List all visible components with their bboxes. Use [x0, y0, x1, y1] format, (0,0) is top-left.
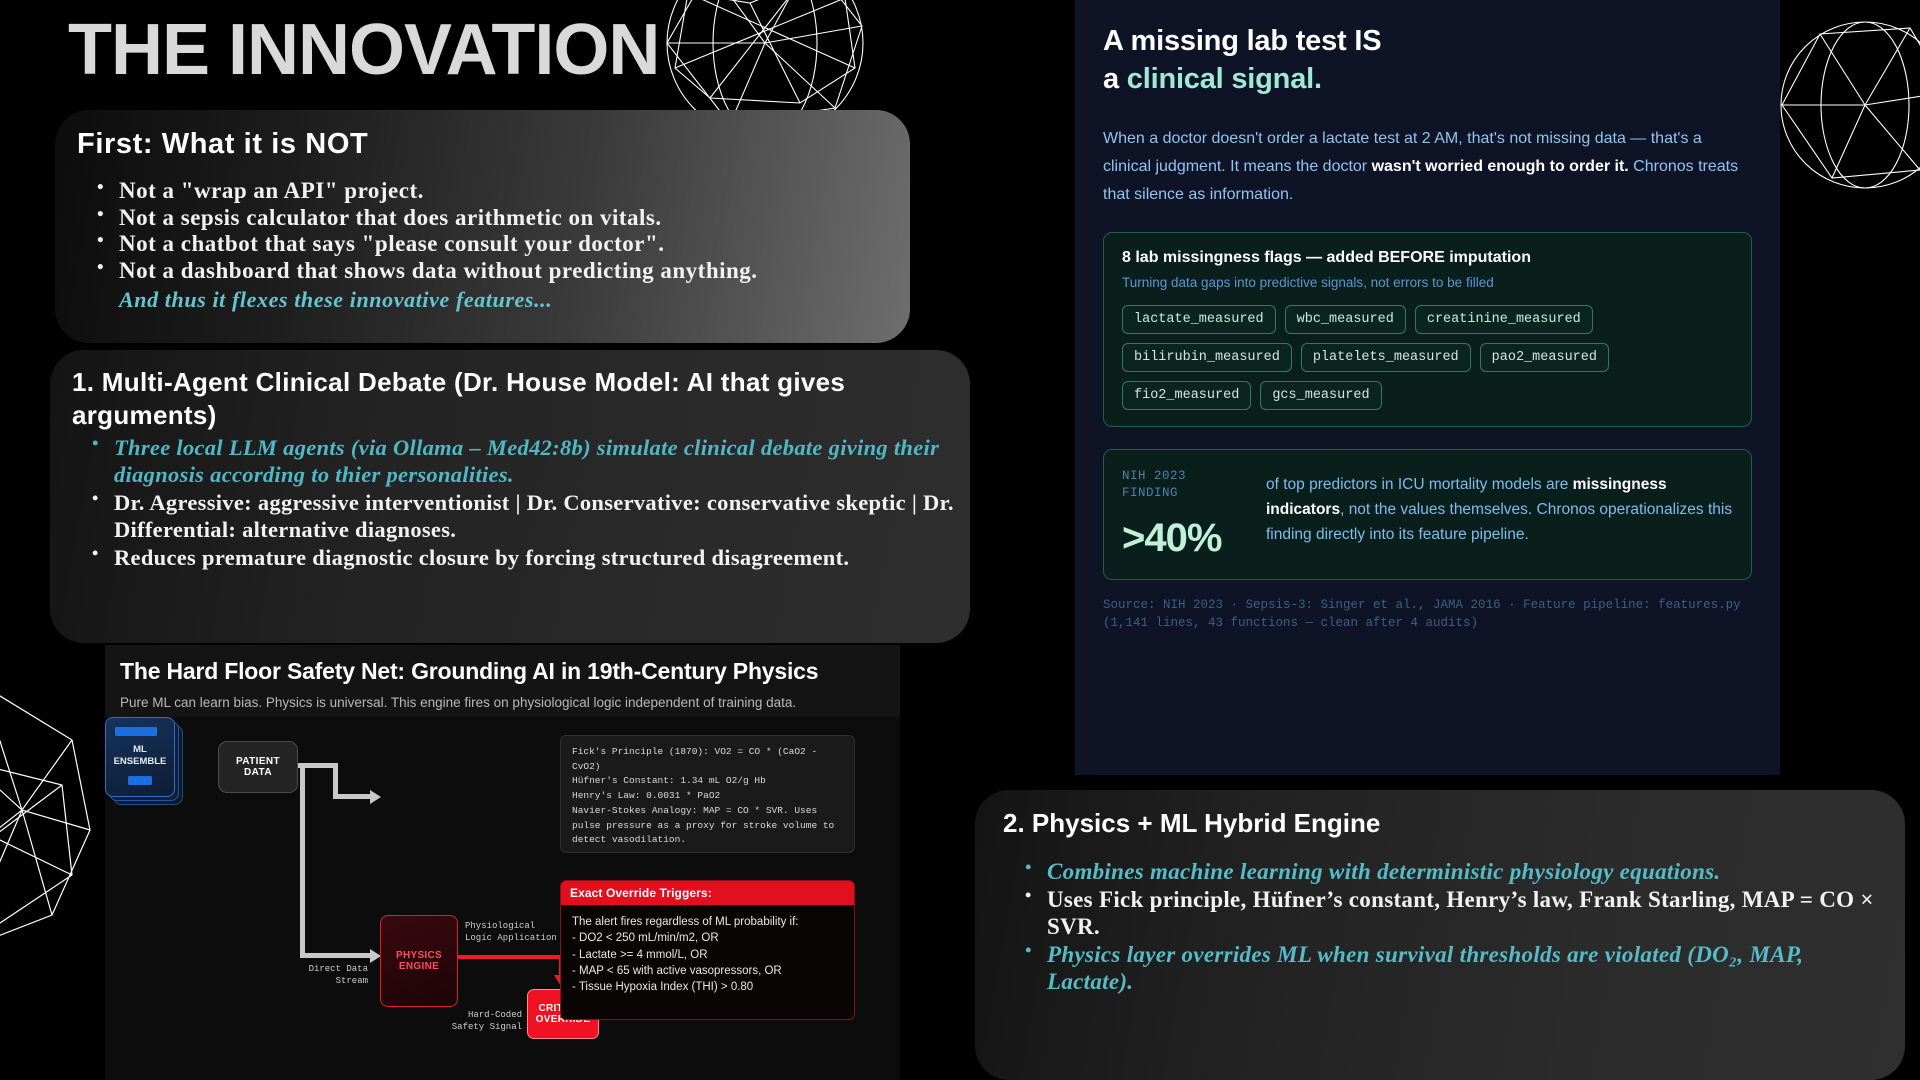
page-title: THE INNOVATION — [68, 14, 659, 86]
section-2-panel: 2. Physics + ML Hybrid Engine Combines m… — [975, 790, 1905, 1080]
edge-patient-to-physics-h — [300, 953, 372, 958]
edge-label-hardcoded-safety: Hard-Coded Safety Signal — [430, 1010, 522, 1033]
trigger-intro: The alert fires regardless of ML probabi… — [572, 914, 843, 930]
list-item: Reduces premature diagnostic closure by … — [92, 544, 962, 571]
finding-text-part-1: of top predictors in ICU mortality model… — [1266, 476, 1573, 493]
list-item: Combines machine learning with determini… — [1025, 858, 1895, 886]
list-item: Not a chatbot that says "please consult … — [97, 231, 897, 258]
edge-patient-to-ml-h2 — [333, 794, 372, 799]
heading-line-1: A missing lab test IS — [1103, 25, 1381, 57]
section-2-heading: 2. Physics + ML Hybrid Engine — [1003, 808, 1380, 839]
hard-floor-title: The Hard Floor Safety Net: Grounding AI … — [120, 658, 818, 685]
right-panel-header: A missing lab test IS a clinical signal. — [1075, 0, 1780, 99]
override-triggers-header: Exact Override Triggers: — [561, 881, 854, 905]
node-patient-data: PATIENT DATA — [218, 741, 298, 793]
hard-floor-diagram: Direct Data Stream Physiological Logic A… — [105, 717, 900, 1080]
ml-bar-top — [115, 727, 157, 736]
edge-physics-to-override-h — [458, 955, 563, 959]
flag-chip-list: lactate_measured wbc_measured creatinine… — [1122, 305, 1733, 410]
hard-floor-panel: The Hard Floor Safety Net: Grounding AI … — [105, 645, 900, 1080]
left-column: THE INNOVATION First: What it is NOT Not… — [0, 0, 1060, 1080]
physics-formulas-box: Fick's Principle (1870): VO2 = CO * (CaO… — [560, 735, 855, 853]
list-item: Uses Fick principle, Hüfner’s constant, … — [1025, 886, 1895, 941]
right-panel-heading: A missing lab test IS a clinical signal. — [1103, 22, 1752, 99]
formula-line: Hüfner's Constant: 1.34 mL O2/g Hb — [572, 774, 843, 789]
nih-finding-box: NIH 2023 FINDING >40% of top predictors … — [1103, 449, 1752, 580]
trigger-item: - Lactate >= 4 mmol/L, OR — [572, 947, 843, 963]
override-triggers-body: The alert fires regardless of ML probabi… — [561, 905, 854, 1005]
right-panel-paragraph: When a doctor doesn't order a lactate te… — [1103, 125, 1752, 210]
not-panel-closing-line: And thus it flexes these innovative feat… — [97, 287, 897, 313]
list-item: Not a sepsis calculator that does arithm… — [97, 205, 897, 232]
list-item: Physics layer overrides ML when survival… — [1025, 941, 1895, 996]
arrow-to-ml-ensemble — [370, 790, 381, 804]
heading-line-2-highlight: clinical signal. — [1127, 63, 1322, 95]
flags-box-subtitle: Turning data gaps into predictive signal… — [1122, 275, 1733, 290]
node-physics-engine: PHYSICS ENGINE — [380, 915, 458, 1007]
trigger-item: - MAP < 65 with active vasopressors, OR — [572, 963, 843, 979]
flag-chip[interactable]: fio2_measured — [1122, 381, 1251, 410]
flag-chip[interactable]: gcs_measured — [1260, 381, 1381, 410]
not-panel-title: First: What it is NOT — [77, 128, 368, 161]
not-panel-list: Not a "wrap an API" project. Not a sepsi… — [97, 178, 897, 313]
finding-stat-column: NIH 2023 FINDING >40% — [1122, 468, 1242, 561]
source-citation: Source: NIH 2023 · Sepsis-3: Singer et a… — [1103, 596, 1752, 632]
missingness-flags-box: 8 lab missingness flags — added BEFORE i… — [1103, 232, 1752, 427]
edge-patient-to-physics-v — [300, 763, 305, 958]
flag-chip[interactable]: creatinine_measured — [1415, 305, 1593, 334]
flags-box-title: 8 lab missingness flags — added BEFORE i… — [1122, 249, 1733, 267]
missing-lab-test-panel: A missing lab test IS a clinical signal.… — [1075, 0, 1780, 775]
section-2-list: Combines machine learning with determini… — [1025, 858, 1895, 996]
formula-line: Fick's Principle (1870): VO2 = CO * (CaO… — [572, 745, 843, 774]
trigger-item: - Tissue Hypoxia Index (THI) > 0.80 — [572, 979, 843, 995]
section-1-list: Three local LLM agents (via Ollama – Med… — [92, 434, 962, 572]
list-item: Three local LLM agents (via Ollama – Med… — [92, 434, 962, 488]
node-ml-ensemble: ML ENSEMBLE — [105, 717, 181, 803]
formula-line: Henry's Law: 0.0031 * PaO2 — [572, 789, 843, 804]
finding-text: of top predictors in ICU mortality model… — [1266, 468, 1733, 561]
paragraph-bold-1: wasn't worried enough to order it. — [1372, 158, 1629, 175]
edge-label-physiological-logic: Physiological Logic Application — [465, 921, 575, 944]
ml-bar-bottom — [128, 776, 152, 785]
formula-line: Navier-Stokes Analogy: MAP = CO * SVR. U… — [572, 804, 843, 848]
flag-chip[interactable]: lactate_measured — [1122, 305, 1276, 334]
what-it-is-not-panel: First: What it is NOT Not a "wrap an API… — [55, 110, 910, 343]
list-item: Not a dashboard that shows data without … — [97, 258, 897, 285]
trigger-item: - DO2 < 250 mL/min/m2, OR — [572, 930, 843, 946]
list-item: Dr. Agressive: aggressive interventionis… — [92, 489, 962, 543]
hard-floor-subtitle: Pure ML can learn bias. Physics is unive… — [120, 695, 796, 710]
flag-chip[interactable]: pao2_measured — [1480, 343, 1609, 372]
edge-label-direct-data-stream: Direct Data Stream — [290, 964, 368, 987]
list-item: Not a "wrap an API" project. — [97, 178, 897, 205]
heading-line-2-plain: a — [1103, 63, 1127, 95]
override-triggers-box: Exact Override Triggers: The alert fires… — [560, 880, 855, 1020]
section-1-heading: 1. Multi-Agent Clinical Debate (Dr. Hous… — [72, 366, 912, 433]
flag-chip[interactable]: bilirubin_measured — [1122, 343, 1292, 372]
flag-chip[interactable]: wbc_measured — [1285, 305, 1406, 334]
finding-stat-value: >40% — [1122, 516, 1242, 561]
finding-kicker: NIH 2023 FINDING — [1122, 468, 1242, 502]
wireframe-sphere-top-right — [1770, 20, 1920, 190]
flag-chip[interactable]: platelets_measured — [1301, 343, 1471, 372]
ml-card-front: ML ENSEMBLE — [105, 717, 175, 797]
section-1-panel: 1. Multi-Agent Clinical Debate (Dr. Hous… — [50, 350, 970, 643]
